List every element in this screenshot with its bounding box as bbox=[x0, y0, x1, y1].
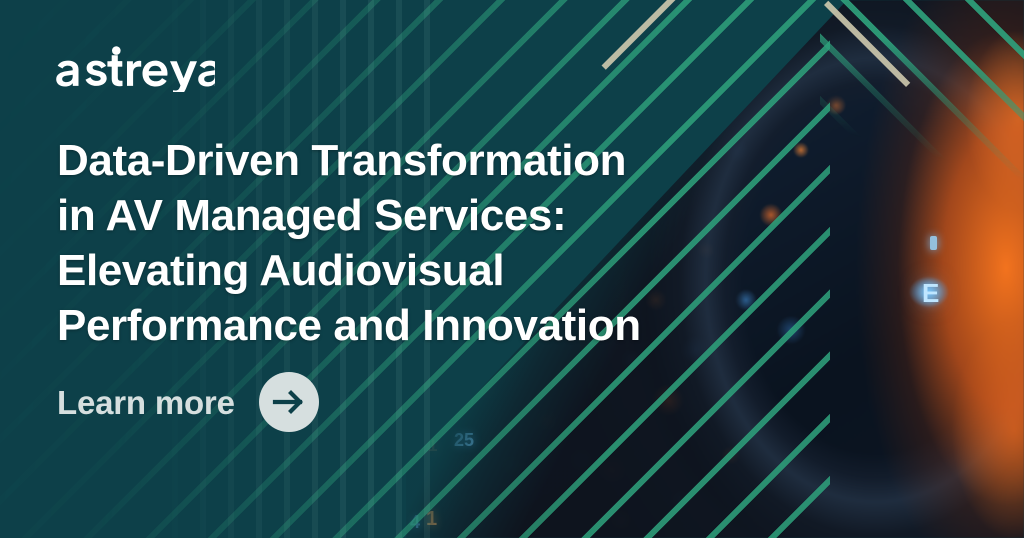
headline-line-4: Performance and Innovation bbox=[57, 298, 737, 353]
headline-line-1: Data-Driven Transformation bbox=[57, 133, 737, 188]
headline-line-2: in AV Managed Services: bbox=[57, 188, 737, 243]
headline-line-3: Elevating Audiovisual bbox=[57, 243, 737, 298]
learn-more-button[interactable]: Learn more bbox=[57, 372, 319, 432]
promo-banner: E 4 1 1 25 bbox=[0, 0, 1024, 538]
astreya-logo[interactable] bbox=[55, 44, 215, 92]
arrow-right-icon[interactable] bbox=[259, 372, 319, 432]
page-title: Data-Driven Transformation in AV Managed… bbox=[57, 133, 737, 353]
learn-more-label: Learn more bbox=[57, 386, 235, 419]
astreya-wordmark-icon bbox=[55, 42, 215, 92]
content-layer: Data-Driven Transformation in AV Managed… bbox=[0, 0, 1024, 538]
